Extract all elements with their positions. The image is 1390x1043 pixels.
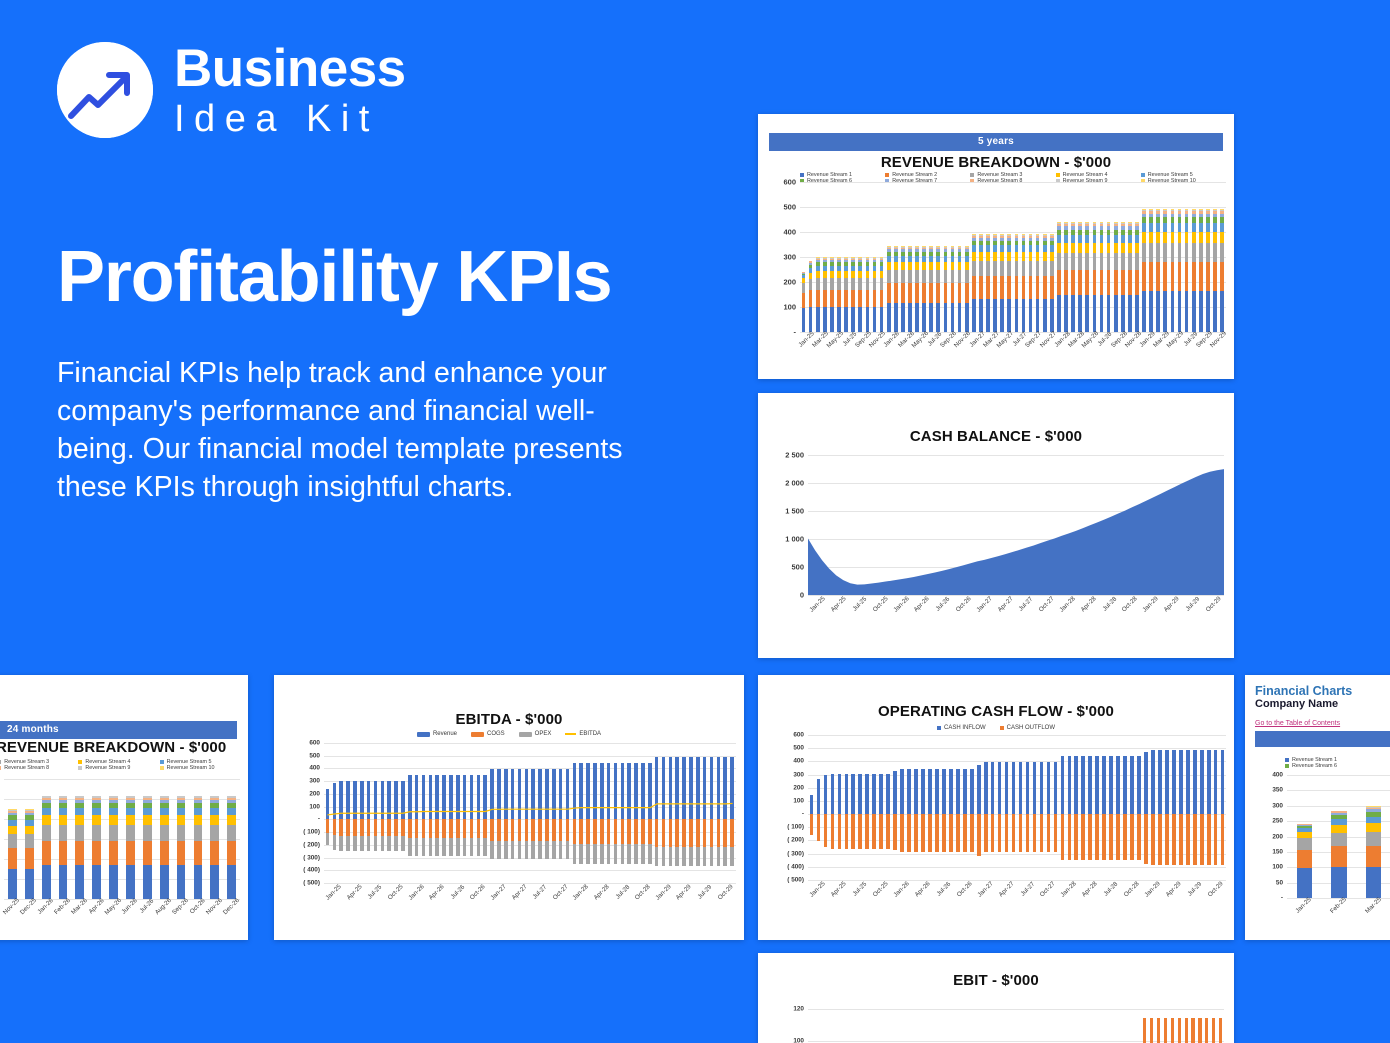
bar-negative (1102, 814, 1106, 860)
stacked-bar (866, 257, 870, 332)
bar-column (105, 779, 122, 899)
bar-segment (143, 841, 152, 865)
legend-swatch-icon (78, 766, 82, 770)
bar-column (843, 182, 850, 332)
bar-positive (984, 762, 988, 814)
bar-segment (1178, 243, 1182, 262)
bar-segment (1050, 261, 1054, 276)
bar-negative (1012, 814, 1016, 852)
bar-negative (1116, 814, 1120, 860)
bar-segment (1107, 253, 1111, 270)
bar-segment (816, 278, 820, 290)
bar-column (926, 735, 933, 880)
card-ebit[interactable]: EBIT - $'000 12010080 (758, 953, 1234, 1043)
bar-segment (1043, 299, 1047, 332)
stacked-bar (1015, 234, 1019, 332)
legend-label: Revenue (433, 731, 457, 737)
bar-positive (914, 769, 918, 814)
bar-segment (1057, 253, 1061, 270)
bar-column (940, 735, 947, 880)
bar-segment (986, 252, 990, 261)
bar-column (1073, 735, 1080, 880)
bar-negative (1109, 814, 1113, 860)
bar-column (4, 779, 21, 899)
bar-column (821, 182, 828, 332)
bar-segment (1036, 245, 1040, 252)
stacked-bar (1114, 222, 1118, 332)
bar-segment (1050, 299, 1054, 332)
bar-segment (160, 865, 169, 899)
stacked-bar (1135, 222, 1139, 332)
bar-column (822, 993, 829, 1043)
gridline (324, 883, 736, 884)
bar-column (1037, 993, 1044, 1043)
bar-segment (951, 262, 955, 270)
bar-segment (25, 834, 34, 848)
bar-segment (177, 865, 186, 899)
bar-negative (1081, 814, 1085, 860)
bar-column (977, 182, 984, 332)
legend-swatch-icon (1285, 764, 1289, 768)
bar-segment (126, 808, 135, 815)
bar-segment (1149, 262, 1153, 291)
bar-column (1087, 735, 1094, 880)
bar-segment (177, 825, 186, 841)
bar-positive (1200, 750, 1204, 815)
bar (1205, 1018, 1208, 1043)
legend-label: CASH OUTFLOW (1007, 725, 1055, 731)
stacked-bar (1064, 222, 1068, 332)
bar-segment (1206, 223, 1210, 232)
bar-column (947, 735, 954, 880)
bar-segment (1199, 232, 1203, 244)
bar-column (1010, 735, 1017, 880)
bar-segment (1107, 235, 1111, 243)
bar-segment (1163, 243, 1167, 262)
bar-segment (75, 815, 84, 825)
bar-segment (837, 307, 841, 332)
bar-segment (143, 825, 152, 841)
bar-segment (936, 283, 940, 303)
bar-segment (1071, 235, 1075, 243)
bar-column (836, 735, 843, 880)
bar-column (956, 182, 963, 332)
bar-segment (210, 841, 219, 865)
bar-negative (977, 814, 981, 856)
bar-column (1041, 182, 1048, 332)
legend-label: Revenue Stream 10 (167, 765, 215, 771)
bar-column (800, 182, 807, 332)
bar-negative (1095, 814, 1099, 860)
stacked-bar (25, 809, 34, 899)
bar-segment (109, 815, 118, 825)
bar-segment (929, 270, 933, 283)
stacked-bar (1050, 234, 1054, 332)
bar-column (857, 735, 864, 880)
bar-segment (929, 283, 933, 303)
bar-positive (1144, 752, 1148, 814)
y-axis-tick: ( 100) (787, 824, 804, 831)
bar-segment (1007, 252, 1011, 261)
bar-column (850, 182, 857, 332)
legend-swatch-icon (970, 173, 974, 177)
bar-column (885, 735, 892, 880)
bar-negative (984, 814, 988, 852)
bar-segment (1036, 252, 1040, 261)
bar-negative (1074, 814, 1078, 860)
bar-segment (1331, 867, 1347, 898)
bar-segment (1029, 276, 1033, 299)
bar-segment (59, 841, 68, 865)
bar-segment (1100, 235, 1104, 243)
bar-positive (1081, 756, 1085, 814)
chart-title-revenue-breakdown-24m: REVENUE BREAKDOWN - $'000 (0, 739, 248, 756)
bar-segment (1064, 243, 1068, 253)
bar-segment (227, 825, 236, 841)
card-cash-balance[interactable]: CASH BALANCE - $'000 2 5002 0001 5001 00… (758, 393, 1234, 658)
stacked-bar (965, 246, 969, 332)
bar-segment (194, 808, 203, 815)
bar-segment (1156, 291, 1160, 332)
y-axis-tick: 200 (309, 790, 320, 797)
bar-segment (816, 290, 820, 308)
bar-negative (872, 814, 876, 849)
bar-segment (1085, 235, 1089, 243)
bar-segment (979, 276, 983, 299)
bar-positive (963, 769, 967, 814)
bar-segment (880, 278, 884, 290)
bar-segment (1114, 243, 1118, 253)
bar-series (4, 779, 240, 899)
y-axis-tick: ( 500) (303, 880, 320, 887)
bar-segment (227, 815, 236, 825)
plot-revenue-breakdown-24m (4, 779, 240, 899)
stacked-bar (993, 234, 997, 332)
bar (1164, 1018, 1167, 1043)
bar-column (919, 993, 926, 1043)
bar-positive (1026, 762, 1030, 814)
bar-segment (1142, 262, 1146, 291)
bar-segment (1000, 276, 1004, 299)
y-axis-tick: ( 400) (303, 867, 320, 874)
bar-segment (1149, 223, 1153, 232)
stacked-bar (929, 246, 933, 332)
line-series-ebitda (324, 743, 736, 883)
bar-negative (949, 814, 953, 852)
bar-column (864, 735, 871, 880)
table-of-contents-link[interactable]: Go to the Table of Contents (1255, 720, 1340, 727)
bar-segment (92, 841, 101, 865)
bar-positive (1179, 750, 1183, 815)
bar-column (981, 993, 988, 1043)
bar-segment (1366, 832, 1382, 846)
bar-segment (958, 262, 962, 270)
stacked-bar (986, 234, 990, 332)
bar-column (1045, 735, 1052, 880)
bar-segment (1178, 232, 1182, 244)
bar-column (1017, 735, 1024, 880)
chart-title-ebit: EBIT - $'000 (758, 972, 1234, 989)
bar-segment (1135, 253, 1139, 270)
bar-segment (1178, 262, 1182, 291)
y-axis-tick: 500 (309, 752, 320, 759)
bar-segment (25, 826, 34, 834)
plot-operating-cash-flow: 600500400300200100-( 100)( 200)( 300)( 4… (808, 735, 1226, 880)
legend-item: Revenue Stream 6 (1285, 763, 1390, 769)
card-revenue-breakdown-5y[interactable]: 5 years REVENUE BREAKDOWN - $'000 Revenu… (758, 114, 1234, 379)
bar-segment (1057, 270, 1061, 296)
plot-financial-charts: 40035030025020015010050- (1287, 775, 1390, 898)
bar-segment (993, 299, 997, 332)
bar-negative (865, 814, 869, 849)
bar-segment (908, 303, 912, 332)
bar-column (38, 779, 55, 899)
bar-column (878, 182, 885, 332)
bar-column (857, 993, 864, 1043)
bar-column (885, 182, 892, 332)
y-axis-tick: 400 (783, 228, 796, 237)
bar-column (1003, 735, 1010, 880)
bar-positive (1102, 756, 1106, 814)
bar-segment (25, 848, 34, 869)
legend-swatch-icon (1285, 758, 1289, 762)
legend-label: EBITDA (579, 731, 601, 737)
bar-positive (1033, 762, 1037, 814)
bar-segment (1171, 243, 1175, 262)
stacked-bar (1071, 222, 1075, 332)
bar-negative (1033, 814, 1037, 852)
bar-segment (951, 283, 955, 303)
bar-segment (109, 841, 118, 865)
bar-column (1148, 993, 1155, 1043)
bar-column (1065, 993, 1072, 1043)
bar-column (954, 735, 961, 880)
bar-column (850, 735, 857, 880)
bar-positive (1005, 762, 1009, 814)
bar-positive (1047, 762, 1051, 814)
bar (1212, 1018, 1215, 1043)
bar-positive (886, 774, 890, 814)
stacked-bar (1022, 234, 1026, 332)
bar-positive (893, 771, 897, 815)
bar-segment (802, 283, 806, 293)
bar-segment (1114, 235, 1118, 243)
bar-segment (1185, 243, 1189, 262)
bar-segment (887, 283, 891, 303)
card-ebitda[interactable]: EBITDA - $'000 RevenueCOGSOPEXEBITDA 600… (274, 675, 744, 940)
bar-positive (838, 774, 842, 814)
y-axis-tick: 400 (1272, 772, 1283, 779)
bar-column (878, 735, 885, 880)
chart-title-cash-balance: CASH BALANCE - $'000 (758, 428, 1234, 445)
bar-column (1108, 735, 1115, 880)
card-operating-cash-flow[interactable]: OPERATING CASH FLOW - $'000 CASH INFLOWC… (758, 675, 1234, 940)
bar-segment (823, 290, 827, 308)
stacked-bar (126, 796, 135, 900)
bar-segment (915, 270, 919, 283)
bar-column (871, 735, 878, 880)
area-series-cash-balance (808, 455, 1224, 595)
bar-segment (1071, 253, 1075, 270)
bar-column (1048, 182, 1055, 332)
legend-financial-charts: Revenue Stream 1Revenue Stream 6 (1285, 757, 1390, 769)
bar-segment (1128, 270, 1132, 296)
bar-column (1105, 182, 1112, 332)
bar-negative (1068, 814, 1072, 860)
stacked-bar (177, 796, 186, 900)
bar-positive (858, 774, 862, 814)
bar-column (1101, 735, 1108, 880)
bar-segment (1000, 252, 1004, 261)
bar-segment (1171, 232, 1175, 244)
bar-positive (865, 774, 869, 814)
stacked-bar (1043, 234, 1047, 332)
bar-negative (1186, 814, 1190, 865)
bar-segment (1185, 262, 1189, 291)
y-axis-tick: - (318, 816, 320, 823)
bar-segment (979, 245, 983, 252)
bar-segment (8, 848, 17, 869)
bar-negative (1047, 814, 1051, 852)
bar-segment (1000, 245, 1004, 252)
bar-column (1062, 182, 1069, 332)
bar-segment (143, 865, 152, 899)
bar-segment (802, 293, 806, 308)
bar-segment (1331, 833, 1347, 847)
y-axis-tick: 100 (1272, 864, 1283, 871)
stacked-bar (979, 234, 983, 332)
legend-bar-icon (471, 732, 484, 737)
stacked-bar (1199, 209, 1203, 332)
stacked-bar (830, 257, 834, 332)
bar-column (1119, 182, 1126, 332)
bar-segment (922, 270, 926, 283)
bar-segment (1366, 846, 1382, 868)
bar-segment (1064, 295, 1068, 332)
bar-segment (858, 278, 862, 290)
bar-column (1023, 993, 1030, 1043)
bar-segment (1078, 235, 1082, 243)
bar-column (940, 993, 947, 1043)
stacked-bar (858, 257, 862, 332)
bar-segment (1071, 270, 1075, 296)
stacked-bar (915, 246, 919, 332)
legend-item: Revenue (417, 731, 457, 737)
bar-segment (1078, 243, 1082, 253)
bar-segment (851, 290, 855, 308)
bar-segment (1022, 252, 1026, 261)
bar-segment (1085, 253, 1089, 270)
bar-negative (956, 814, 960, 852)
bar-segment (901, 303, 905, 332)
stacked-bar (1093, 222, 1097, 332)
bar-segment (1213, 243, 1217, 262)
bar-negative (1179, 814, 1183, 865)
bar-column (850, 993, 857, 1043)
bar-negative (851, 814, 855, 849)
bar-segment (1022, 245, 1026, 252)
bar-column (822, 735, 829, 880)
bar-segment (1331, 825, 1347, 833)
bar-negative (1151, 814, 1155, 865)
bar-positive (1207, 750, 1211, 815)
legend-ebitda: RevenueCOGSOPEXEBITDA (274, 731, 744, 737)
y-axis-tick: 300 (793, 771, 804, 778)
bar-column (1006, 182, 1013, 332)
bar-segment (1199, 262, 1203, 291)
bar (1143, 1018, 1146, 1043)
bar-segment (1142, 243, 1146, 262)
bar-column (1203, 993, 1210, 1043)
bar-negative (1221, 814, 1225, 865)
bar-segment (143, 808, 152, 815)
chart-title-ebitda: EBITDA - $'000 (274, 711, 744, 728)
bar-segment (1156, 232, 1160, 244)
y-axis-tick: 500 (791, 563, 804, 572)
legend-swatch-icon (885, 173, 889, 177)
bar-segment (1043, 245, 1047, 252)
bar-segment (42, 841, 51, 865)
bar-segment (177, 841, 186, 865)
bar-segment (1199, 291, 1203, 332)
bar-segment (858, 307, 862, 332)
legend-swatch-icon (937, 726, 941, 730)
bar-segment (1366, 867, 1382, 898)
bar-column (1149, 735, 1156, 880)
bar-column (71, 779, 88, 899)
bar-segment (958, 283, 962, 303)
bar-segment (1366, 823, 1382, 832)
bar-segment (1135, 243, 1139, 253)
bar-positive (1137, 756, 1141, 814)
bar-column (913, 735, 920, 880)
bar-column (1198, 735, 1205, 880)
bar-segment (1128, 295, 1132, 332)
bar-column (1009, 993, 1016, 1043)
bar-segment (42, 808, 51, 815)
bar-segment (126, 815, 135, 825)
bar-positive (872, 774, 876, 814)
bar-column (989, 735, 996, 880)
bar-segment (1015, 245, 1019, 252)
bar-column (1031, 735, 1038, 880)
stacked-bar (1192, 209, 1196, 332)
bar-segment (42, 825, 51, 841)
bar-segment (227, 808, 236, 815)
card-revenue-breakdown-24m[interactable]: 24 months REVENUE BREAKDOWN - $'000 Reve… (0, 675, 248, 940)
bar-negative (1214, 814, 1218, 865)
bar-segment (1213, 262, 1217, 291)
bar-positive (1221, 750, 1225, 815)
legend-revenue-streams-24m: Revenue Stream 3Revenue Stream 4Revenue … (0, 759, 242, 771)
card-financial-charts[interactable]: Financial Charts Company Name Go to the … (1245, 675, 1390, 940)
bar-segment (1206, 232, 1210, 244)
bar-negative (1054, 814, 1058, 852)
bar-column (995, 993, 1002, 1043)
bar-segment (8, 869, 17, 899)
bar-segment (1185, 232, 1189, 244)
bar-column (1091, 182, 1098, 332)
bar-column (807, 182, 814, 332)
bar-column (871, 182, 878, 332)
bar-column (1356, 775, 1390, 898)
bar-positive (1074, 756, 1078, 814)
legend-label: Revenue Stream 8 (4, 765, 49, 771)
brand-subtitle: Idea Kit (174, 100, 406, 138)
bar-segment (75, 865, 84, 899)
bar-column (857, 182, 864, 332)
bar-segment (1185, 223, 1189, 232)
